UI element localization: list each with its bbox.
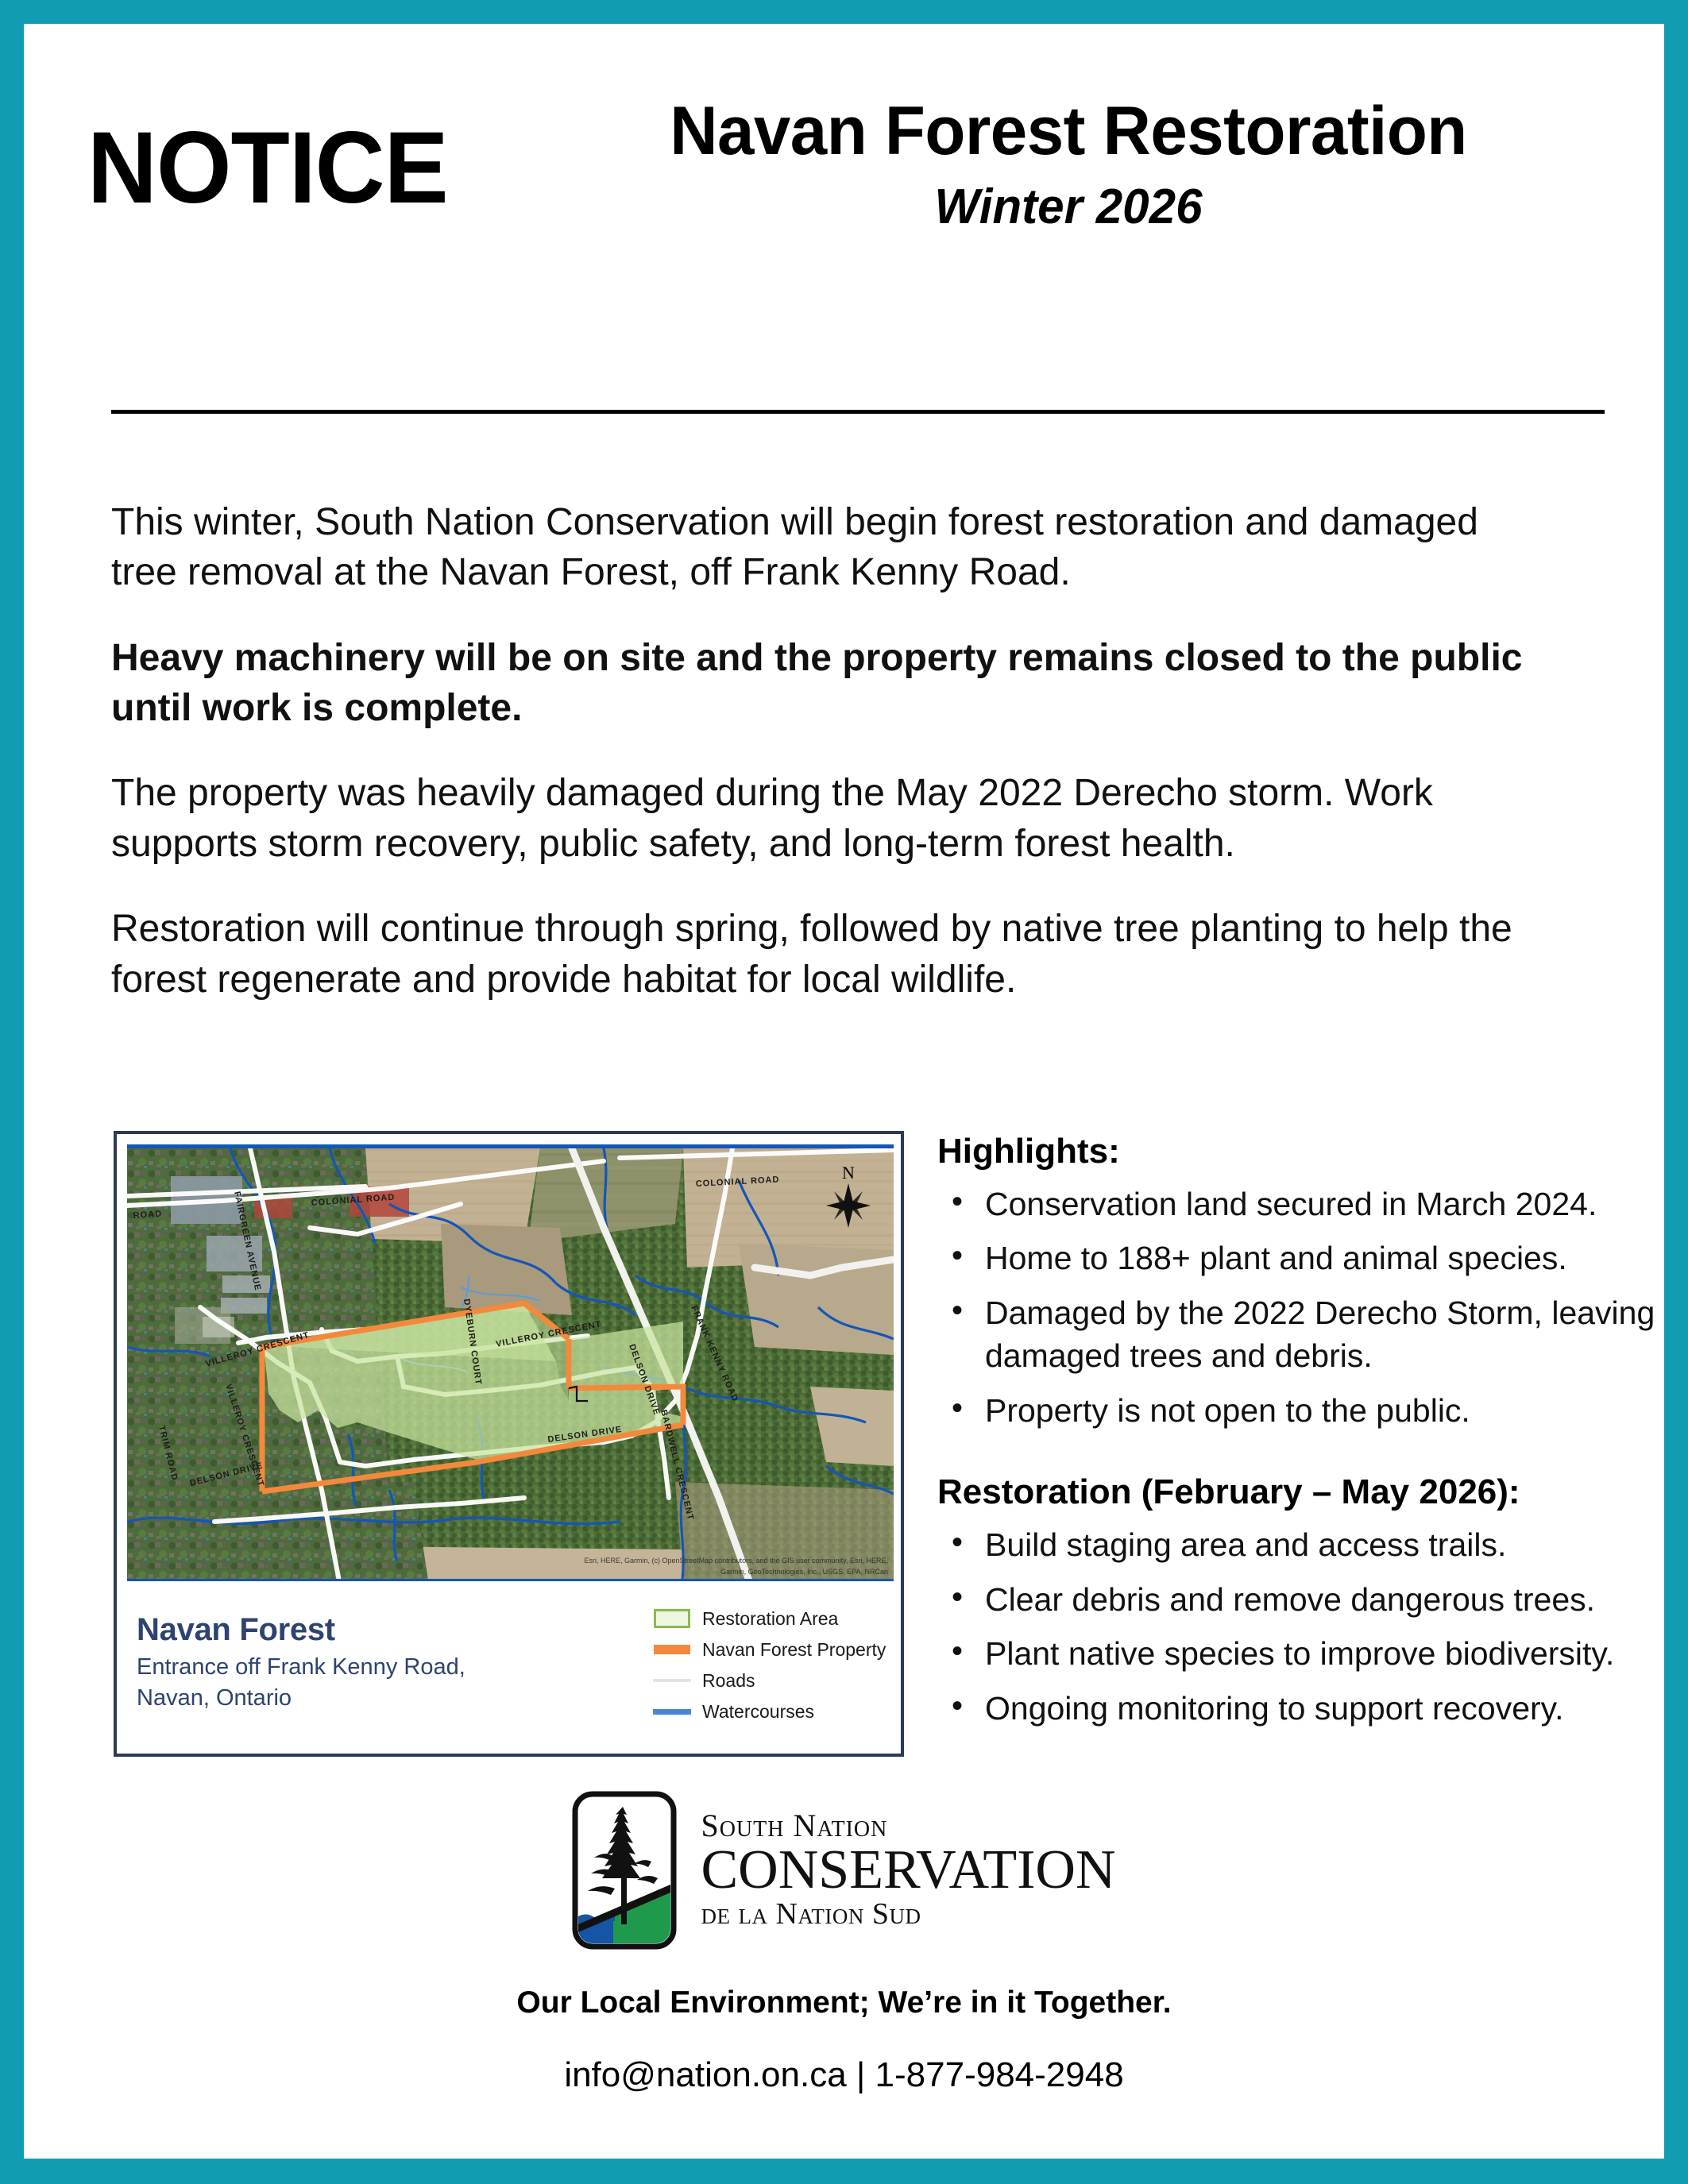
logo-wordmark: South Nation CONSERVATION de la Nation S… (701, 1809, 1115, 1931)
map-legend: Restoration Area Navan Forest Property R… (651, 1606, 890, 1730)
legend-item-navan-forest-property: Navan Forest Property (651, 1637, 890, 1662)
map-address-line-1: Entrance off Frank Kenny Road, (137, 1652, 550, 1683)
list-item: Ongoing monitoring to support recovery. (937, 1687, 1660, 1731)
page-title: Navan Forest Restoration (548, 95, 1589, 167)
map-footer: Navan Forest Entrance off Frank Kenny Ro… (127, 1595, 894, 1746)
footer-contact: info@nation.on.ca | 1-877-984-2948 (24, 2055, 1664, 2095)
map-site-name: Navan Forest (137, 1612, 550, 1647)
notice-page: NOTICE Navan Forest Restoration Winter 2… (24, 24, 1664, 2159)
footer: Our Local Environment; We’re in it Toget… (24, 1985, 1664, 2095)
svg-text:N: N (842, 1163, 855, 1183)
list-item: Conservation land secured in March 2024. (937, 1183, 1660, 1226)
legend-label-restoration-area: Restoration Area (702, 1608, 838, 1630)
list-item: Home to 188+ plant and animal species. (937, 1237, 1660, 1280)
notice-heading: NOTICE (87, 118, 448, 219)
list-item: Plant native species to improve biodiver… (937, 1632, 1660, 1676)
paragraph-3: The property was heavily damaged during … (111, 768, 1541, 869)
logo-line-de-la-nation-sud: de la Nation Sud (701, 1898, 1115, 1931)
watercourse-line-swatch-icon (651, 1709, 693, 1715)
list-item: Clear debris and remove dangerous trees. (937, 1578, 1660, 1622)
list-item: Build staging area and access trails. (937, 1523, 1660, 1567)
page-subtitle: Winter 2026 (548, 178, 1589, 237)
paragraph-2-closure-warning: Heavy machinery will be on site and the … (111, 633, 1541, 734)
map-label-road: ROAD (133, 1209, 162, 1221)
property-line-swatch-icon (651, 1645, 693, 1654)
paragraph-1: This winter, South Nation Conservation w… (111, 497, 1541, 598)
list-item: Damaged by the 2022 Derecho Storm, leavi… (937, 1291, 1660, 1378)
legend-label-watercourses: Watercourses (702, 1701, 814, 1723)
map-address-line-2: Navan, Ontario (137, 1683, 550, 1714)
restoration-heading: Restoration (February – May 2026): (937, 1472, 1660, 1514)
legend-item-watercourses: Watercourses (651, 1699, 890, 1724)
logo-line-south-nation: South Nation (701, 1809, 1115, 1843)
list-item: Property is not open to the public. (937, 1389, 1660, 1433)
map-attribution: Esri, HERE, Garmin, (c) OpenStreetMap co… (585, 1557, 888, 1565)
map-panel: COLONIAL ROAD COLONIAL ROAD ROAD FAIRGRE… (114, 1131, 904, 1757)
restoration-list: Build staging area and access trails. Cl… (937, 1523, 1660, 1730)
info-column: Highlights: Conservation land secured in… (937, 1131, 1660, 1741)
legend-label-navan-forest-property: Navan Forest Property (702, 1639, 886, 1661)
road-line-swatch-icon (651, 1679, 693, 1682)
snc-badge-icon (572, 1791, 677, 1950)
map-svg: COLONIAL ROAD COLONIAL ROAD ROAD FAIRGRE… (127, 1148, 894, 1581)
svg-text:Garmin, GeoTechnologies, Inc.,: Garmin, GeoTechnologies, Inc., USGS, EPA… (720, 1568, 888, 1576)
legend-item-roads: Roads (651, 1668, 890, 1693)
aerial-map-image: COLONIAL ROAD COLONIAL ROAD ROAD FAIRGRE… (127, 1144, 894, 1581)
highlights-heading: Highlights: (937, 1131, 1660, 1173)
legend-label-roads: Roads (702, 1670, 755, 1692)
body-copy: This winter, South Nation Conservation w… (111, 497, 1541, 1040)
paragraph-4: Restoration will continue through spring… (111, 904, 1541, 1005)
logo-line-conservation: CONSERVATION (701, 1843, 1115, 1898)
organization-logo: South Nation CONSERVATION de la Nation S… (24, 1791, 1664, 1950)
title-block: Navan Forest Restoration Winter 2026 (532, 95, 1605, 237)
header: NOTICE Navan Forest Restoration Winter 2… (87, 71, 1605, 262)
header-divider (111, 410, 1605, 414)
map-caption: Navan Forest Entrance off Frank Kenny Ro… (137, 1612, 550, 1713)
footer-tagline: Our Local Environment; We’re in it Toget… (24, 1985, 1664, 2020)
highlights-list: Conservation land secured in March 2024.… (937, 1183, 1660, 1433)
legend-item-restoration-area: Restoration Area (651, 1606, 890, 1631)
restoration-area-swatch-icon (651, 1609, 693, 1628)
